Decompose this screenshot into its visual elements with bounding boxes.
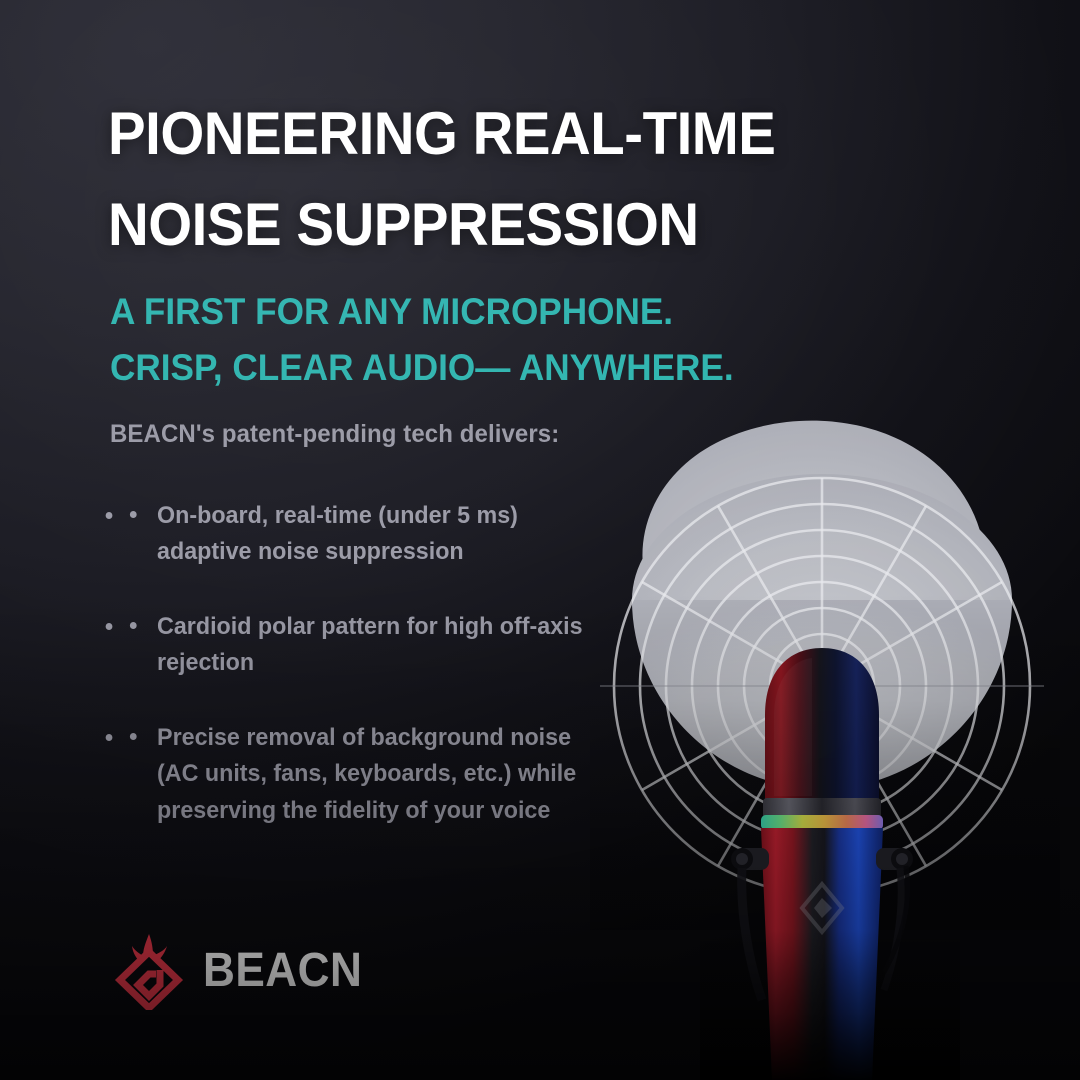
feature-list: On-board, real-time (under 5 ms) adaptiv… — [126, 498, 626, 829]
list-item: On-board, real-time (under 5 ms) adaptiv… — [126, 498, 611, 571]
list-item: Cardioid polar pattern for high off-axis… — [126, 609, 611, 682]
headline-line-2: NOISE SUPPRESSION — [108, 179, 860, 270]
brand-logo: BEACN — [112, 932, 376, 1010]
poster-canvas: PIONEERING REAL-TIME NOISE SUPPRESSION A… — [0, 0, 1080, 1080]
list-item-label: Cardioid polar pattern for high off-axis… — [157, 613, 583, 676]
subheadline-line-1: A FIRST FOR ANY MICROPHONE. — [110, 284, 889, 340]
bullet-dot-icon — [130, 622, 137, 629]
headline-line-1: PIONEERING REAL-TIME — [108, 88, 860, 179]
beacn-wordmark: BEACN — [203, 947, 362, 995]
list-item-label: Precise removal of background noise (AC … — [157, 724, 576, 824]
page-subheadline: A FIRST FOR ANY MICROPHONE. CRISP, CLEAR… — [110, 284, 889, 395]
beacn-flame-mark-icon — [112, 932, 186, 1010]
lead-in-text: BEACN's patent-pending tech delivers: — [110, 420, 559, 449]
list-item: Precise removal of background noise (AC … — [126, 720, 611, 829]
page-headline: PIONEERING REAL-TIME NOISE SUPPRESSION — [108, 88, 860, 270]
list-item-label: On-board, real-time (under 5 ms) adaptiv… — [157, 502, 518, 565]
bullet-dot-icon — [130, 733, 137, 740]
subheadline-line-2: CRISP, CLEAR AUDIO— ANYWHERE. — [110, 340, 889, 396]
bullet-dot-icon — [130, 511, 137, 518]
